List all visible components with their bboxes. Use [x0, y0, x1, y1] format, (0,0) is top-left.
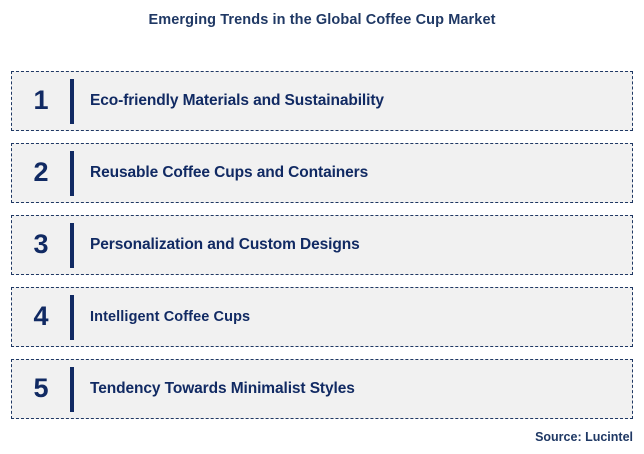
trend-rank-number: 3	[12, 231, 70, 260]
trend-rank-number: 5	[12, 375, 70, 404]
list-item[interactable]: 4 Intelligent Coffee Cups	[11, 287, 633, 347]
trend-list: 1 Eco-friendly Materials and Sustainabil…	[11, 71, 633, 431]
trend-label: Personalization and Custom Designs	[74, 236, 360, 254]
list-item[interactable]: 3 Personalization and Custom Designs	[11, 215, 633, 275]
trend-label: Reusable Coffee Cups and Containers	[74, 164, 368, 182]
trend-label: Tendency Towards Minimalist Styles	[74, 380, 355, 398]
trends-infographic: Emerging Trends in the Global Coffee Cup…	[0, 0, 644, 454]
list-item[interactable]: 5 Tendency Towards Minimalist Styles	[11, 359, 633, 419]
page-title: Emerging Trends in the Global Coffee Cup…	[0, 12, 644, 28]
trend-label: Eco-friendly Materials and Sustainabilit…	[74, 92, 384, 110]
source-attribution: Source: Lucintel	[535, 430, 633, 444]
trend-label: Intelligent Coffee Cups	[74, 309, 250, 325]
trend-rank-number: 1	[12, 87, 70, 116]
trend-rank-number: 2	[12, 159, 70, 188]
list-item[interactable]: 1 Eco-friendly Materials and Sustainabil…	[11, 71, 633, 131]
list-item[interactable]: 2 Reusable Coffee Cups and Containers	[11, 143, 633, 203]
trend-rank-number: 4	[12, 303, 70, 332]
